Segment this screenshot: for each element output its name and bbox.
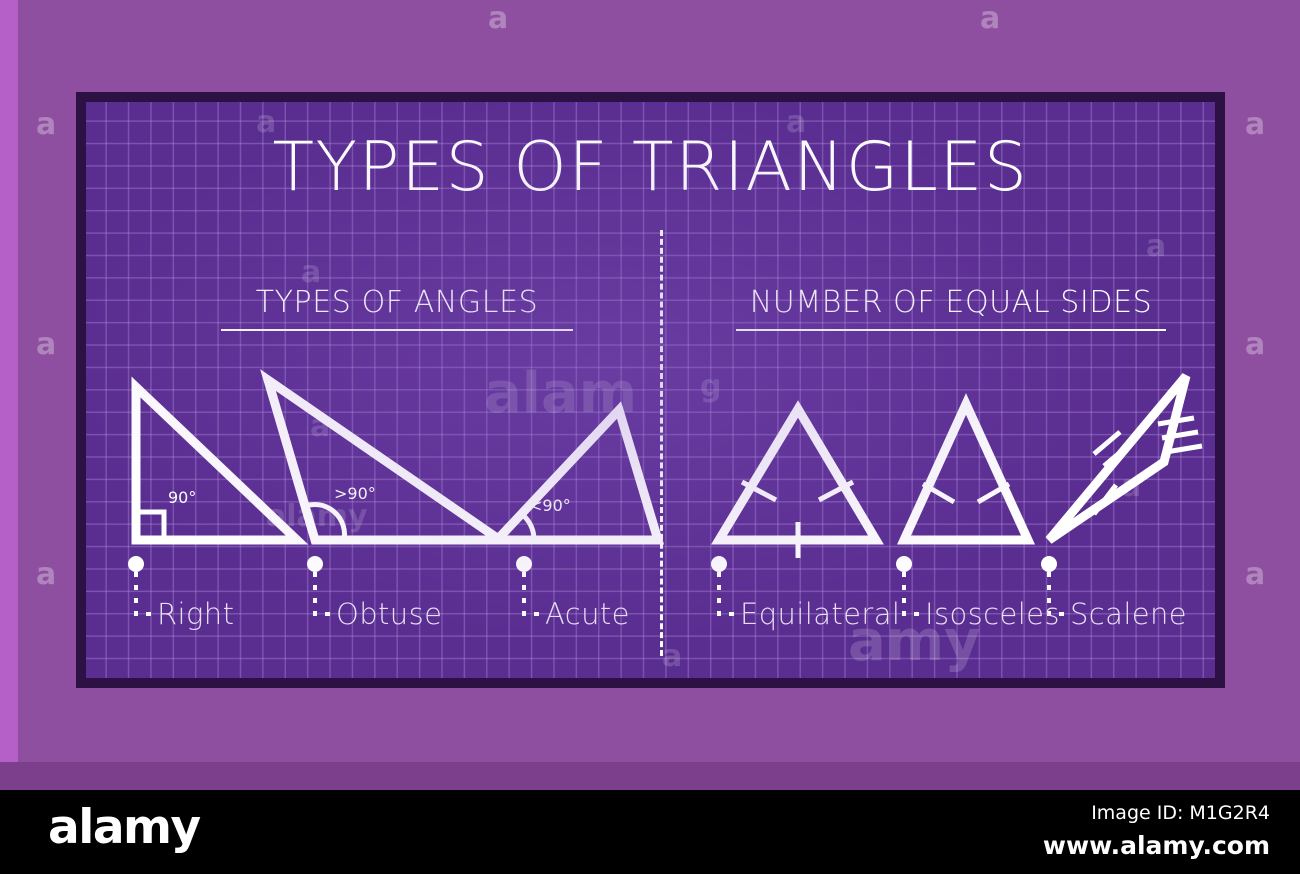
- section-heading-sides-label: NUMBER OF EQUAL SIDES: [750, 285, 1153, 320]
- grid-board: a a a a alam amy alamy g a a a TYPES OF …: [86, 102, 1215, 678]
- section-underline: [221, 329, 573, 331]
- chalkboard-frame: a a a a alam amy alamy g a a a TYPES OF …: [76, 92, 1225, 688]
- screenshot-root: a a a a a a a a a a a a alam amy alamy g…: [0, 0, 1300, 874]
- watermark-mat: a: [980, 4, 1000, 34]
- section-heading-angles: TYPES OF ANGLES: [221, 288, 573, 331]
- figure-equilateral: [719, 409, 876, 558]
- angle-label-right: 90°: [168, 490, 196, 506]
- alamy-footer-bar: alamy Image ID: M1G2R4 www.alamy.com: [0, 790, 1300, 874]
- watermark-board: a: [1121, 472, 1141, 502]
- watermark-board: a: [301, 258, 321, 288]
- leader-dot-scalene: [1041, 556, 1057, 572]
- mat-left-edge: [0, 0, 18, 790]
- figure-isosceles: [904, 404, 1028, 540]
- leader-dot-acute: [516, 556, 532, 572]
- watermark-mat: a: [488, 4, 508, 34]
- angle-label-acute: <90°: [529, 498, 571, 514]
- caption-right: Right: [157, 600, 234, 629]
- caption-equilateral: Equilateral: [740, 600, 900, 629]
- leader-dot-equilateral: [711, 556, 727, 572]
- watermark-board: a: [662, 642, 682, 672]
- section-heading-sides: NUMBER OF EQUAL SIDES: [736, 288, 1166, 331]
- leader-isosceles: [904, 572, 926, 614]
- figure-scalene: [1049, 376, 1202, 540]
- section-underline: [736, 329, 1166, 331]
- watermark-board: alam: [484, 366, 637, 422]
- poster-mat: a a a a a a a a a a a a alam amy alamy g…: [0, 0, 1300, 790]
- alamy-logo: alamy: [48, 804, 200, 851]
- watermark-board: a: [310, 412, 330, 442]
- watermark-mat: a: [36, 110, 56, 140]
- watermark-mat: a: [1245, 110, 1265, 140]
- watermark-mat: a: [36, 560, 56, 590]
- caption-acute: Acute: [545, 600, 630, 629]
- watermark-mat: a: [36, 330, 56, 360]
- leader-dot-isosceles: [896, 556, 912, 572]
- watermark-board: a: [1146, 232, 1166, 262]
- leader-equilateral: [719, 572, 741, 614]
- figure-acute: [497, 410, 658, 540]
- alamy-url: www.alamy.com: [1010, 833, 1270, 858]
- caption-isosceles: Isosceles: [925, 600, 1060, 629]
- image-id-text: Image ID: M1G2R4: [1010, 804, 1270, 823]
- watermark-board: alamy: [266, 502, 368, 532]
- leader-dot-obtuse: [307, 556, 323, 572]
- section-heading-angles-label: TYPES OF ANGLES: [256, 285, 539, 320]
- leader-obtuse: [315, 572, 337, 614]
- mat-bottom-edge: [0, 762, 1300, 790]
- caption-scalene: Scalene: [1070, 600, 1187, 629]
- page-title: TYPES OF TRIANGLES: [86, 134, 1215, 202]
- watermark-mat: a: [1245, 330, 1265, 360]
- watermark-board: g: [700, 372, 721, 402]
- leader-right: [136, 572, 158, 614]
- leader-acute: [524, 572, 546, 614]
- watermark-mat: a: [1245, 560, 1265, 590]
- caption-obtuse: Obtuse: [336, 600, 442, 629]
- section-divider: [660, 230, 663, 656]
- leader-dot-right: [128, 556, 144, 572]
- angle-label-obtuse: >90°: [334, 486, 376, 502]
